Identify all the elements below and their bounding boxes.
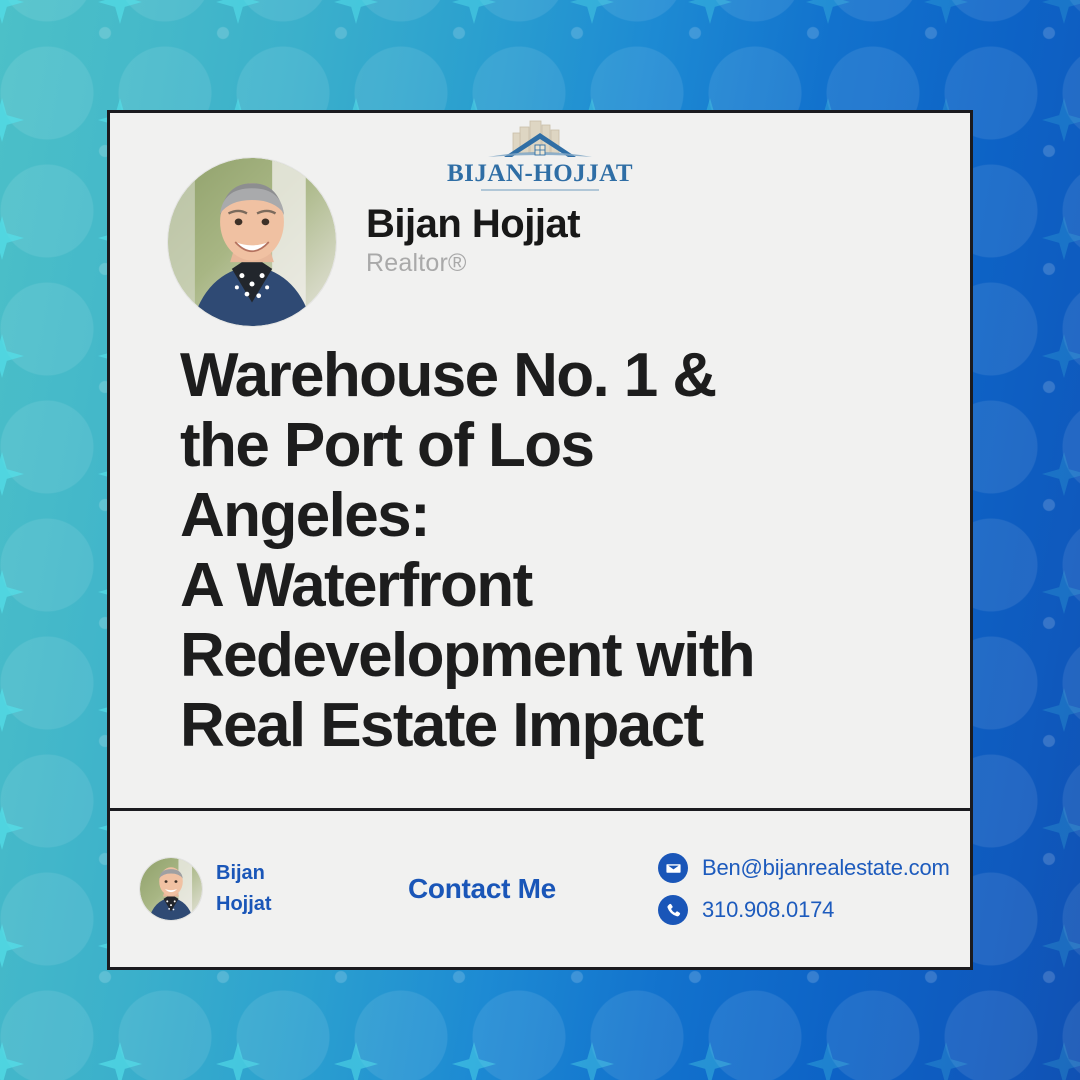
envelope-icon bbox=[658, 853, 688, 883]
contact-list: Ben@bijanrealestate.com 310.908.0174 bbox=[658, 853, 950, 925]
bijan-hojjat-house-logo-icon bbox=[480, 119, 600, 163]
headline-line-4: A Waterfront bbox=[180, 551, 930, 621]
footer-name: Bijan Hojjat bbox=[216, 858, 272, 920]
phone-icon bbox=[658, 895, 688, 925]
headline-line-3: Angeles: bbox=[180, 481, 930, 551]
profile-block: Bijan Hojjat Realtor® bbox=[168, 158, 580, 326]
contact-phone-value: 310.908.0174 bbox=[702, 897, 834, 923]
footer-person: Bijan Hojjat bbox=[140, 858, 408, 920]
contact-email-value: Ben@bijanrealestate.com bbox=[702, 855, 950, 881]
headline-line-2: the Port of Los bbox=[180, 411, 930, 481]
profile-text: Bijan Hojjat Realtor® bbox=[366, 203, 580, 282]
headshot-portrait-small-icon bbox=[140, 858, 202, 920]
headshot-portrait-icon bbox=[168, 158, 336, 326]
contact-phone-row[interactable]: 310.908.0174 bbox=[658, 895, 950, 925]
contact-email-row[interactable]: Ben@bijanrealestate.com bbox=[658, 853, 950, 883]
post-card: BIJAN-HOJJAT bbox=[107, 110, 973, 970]
avatar bbox=[168, 158, 336, 326]
headline-line-5: Redevelopment with bbox=[180, 621, 930, 691]
headline-line-6: Real Estate Impact bbox=[180, 691, 930, 761]
contact-me-label[interactable]: Contact Me bbox=[408, 873, 658, 905]
footer-name-line-1: Bijan bbox=[216, 858, 272, 889]
headline-line-1: Warehouse No. 1 & bbox=[180, 341, 930, 411]
headline: Warehouse No. 1 & the Port of Los Angele… bbox=[180, 341, 930, 761]
footer: Bijan Hojjat Contact Me Ben@bijanrealest… bbox=[110, 811, 970, 967]
profile-role: Realtor® bbox=[366, 249, 580, 278]
footer-name-line-2: Hojjat bbox=[216, 889, 272, 920]
footer-avatar bbox=[140, 858, 202, 920]
card-body: BIJAN-HOJJAT bbox=[110, 113, 970, 808]
profile-name: Bijan Hojjat bbox=[366, 203, 580, 245]
